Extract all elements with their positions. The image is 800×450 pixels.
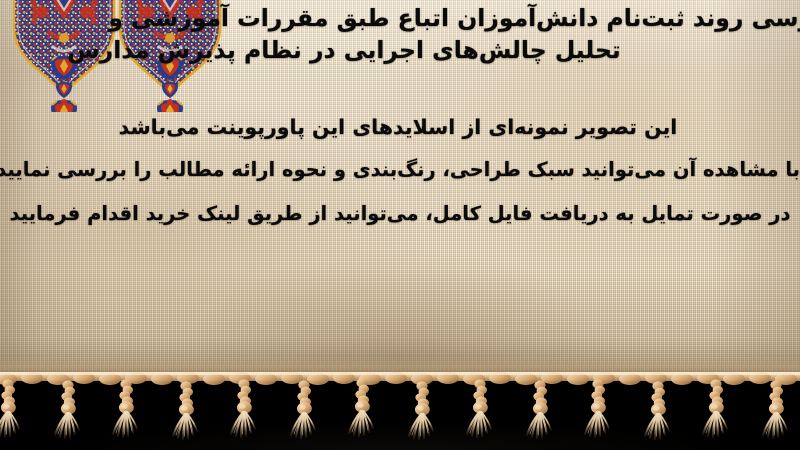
body-line-3: در صورت تمایل به دریافت فایل کامل، می‌تو… — [0, 199, 800, 229]
slide-title: رسی روند ثبت‌نام دانش‌آموزان اتباع طبق م… — [0, 2, 800, 66]
slide-canvas: رسی روند ثبت‌نام دانش‌آموزان اتباع طبق م… — [0, 0, 800, 450]
text-layer: رسی روند ثبت‌نام دانش‌آموزان اتباع طبق م… — [0, 0, 800, 378]
carpet-tassel-fringe — [0, 372, 800, 450]
body-line-1: این تصویر نمونه‌ای از اسلایدهای این پاور… — [0, 112, 800, 142]
body-line-2: با مشاهده آن می‌توانید سبک طراحی، رنگ‌بن… — [0, 155, 800, 185]
title-line-1: رسی روند ثبت‌نام دانش‌آموزان اتباع طبق م… — [0, 2, 800, 34]
title-line-2: تحلیل چالش‌های اجرایی در نظام پذیرش مدار… — [0, 34, 800, 66]
selvedge-rope — [0, 372, 800, 385]
fringe-graphic — [0, 372, 800, 450]
slide-body: این تصویر نمونه‌ای از اسلایدهای این پاور… — [0, 112, 800, 229]
tassel-row — [0, 378, 787, 439]
